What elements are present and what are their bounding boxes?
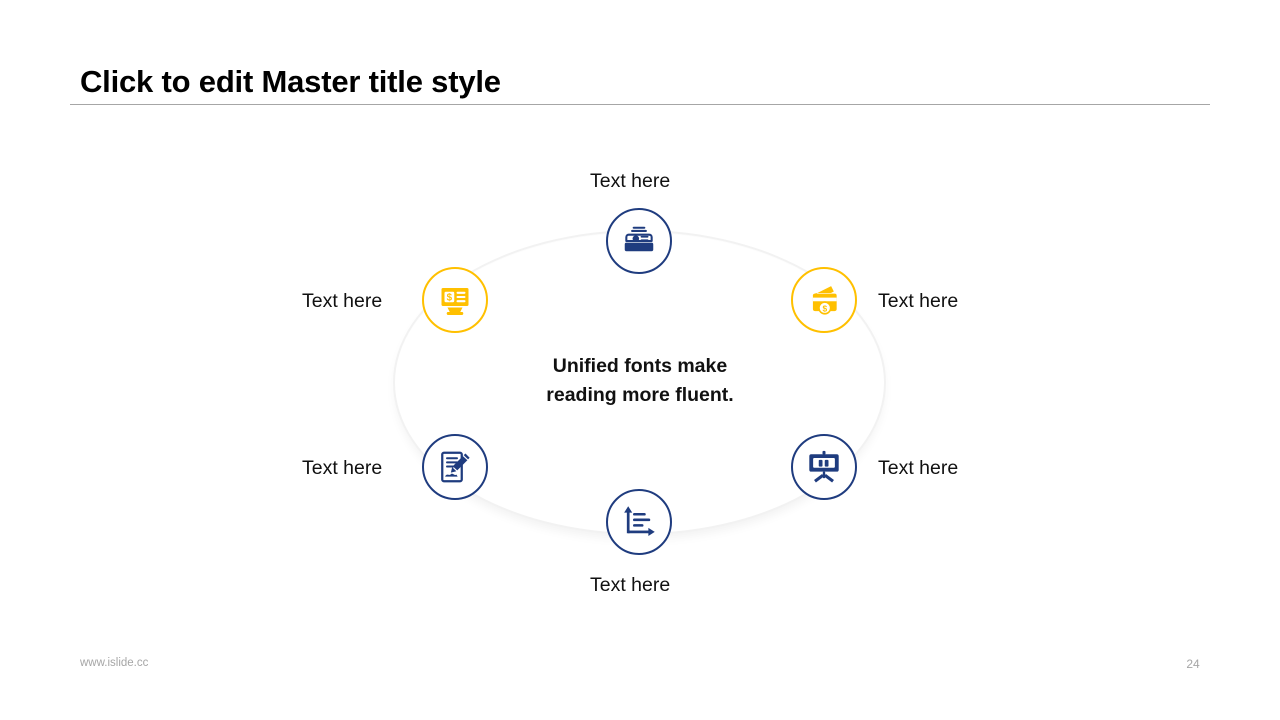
node-lower-left-label: Text here xyxy=(302,456,382,480)
node-top[interactable] xyxy=(606,208,672,274)
center-message-line2: reading more fluent. xyxy=(470,381,810,410)
node-lower-right[interactable] xyxy=(791,434,857,500)
credit-card-coin-icon: $ xyxy=(805,281,843,319)
node-upper-right-label: Text here xyxy=(878,289,958,313)
bar-chart-axes-icon xyxy=(621,504,657,540)
center-message[interactable]: Unified fonts make reading more fluent. xyxy=(470,352,810,410)
footer-page-number: 24 xyxy=(1178,657,1208,671)
document-pencil-icon xyxy=(437,449,473,485)
svg-text:$: $ xyxy=(822,303,827,313)
slide-canvas: Click to edit Master title style Unified… xyxy=(0,0,1280,720)
node-lower-left[interactable] xyxy=(422,434,488,500)
card-index-box-icon xyxy=(620,222,658,260)
circular-diagram: Unified fonts make reading more fluent. xyxy=(0,0,1280,720)
node-bottom[interactable] xyxy=(606,489,672,555)
atm-machine-icon: $ xyxy=(437,282,473,318)
svg-text:$: $ xyxy=(447,292,453,303)
node-upper-right[interactable]: $ xyxy=(791,267,857,333)
node-upper-left-label: Text here xyxy=(302,289,382,313)
node-top-label: Text here xyxy=(590,169,670,193)
node-lower-right-label: Text here xyxy=(878,456,958,480)
node-upper-left[interactable]: $ xyxy=(422,267,488,333)
center-message-line1: Unified fonts make xyxy=(470,352,810,381)
presentation-board-icon xyxy=(806,449,842,485)
footer-brand: www.islide.cc xyxy=(80,657,148,669)
node-bottom-label: Text here xyxy=(590,573,670,597)
